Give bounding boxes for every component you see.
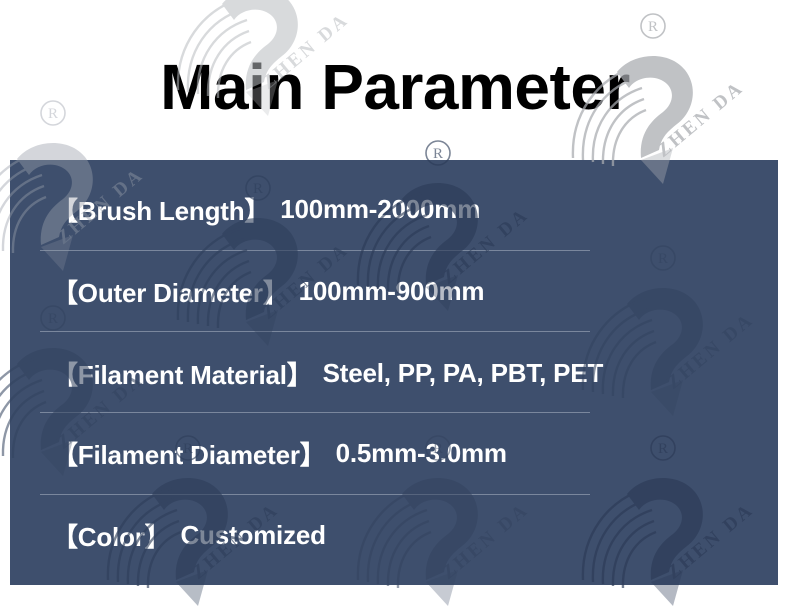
parameter-list: 【Brush Length】 100mm-2000mm 【Outer Diame… <box>10 160 778 585</box>
parameter-value: 100mm-900mm <box>299 276 485 307</box>
parameter-row: 【Filament Material】 Steel, PP, PA, PBT, … <box>52 352 603 394</box>
parameter-label: 【Filament Diameter】 <box>52 435 326 472</box>
parameter-label: 【Brush Length】 <box>52 191 270 228</box>
parameter-label: 【Color】 <box>52 517 170 554</box>
parameter-row: 【Color】 Customized <box>52 514 326 556</box>
parameter-row: 【Filament Diameter】 0.5mm-3.0mm <box>52 432 507 474</box>
parameter-label: 【Filament Material】 <box>52 355 313 392</box>
parameter-value: 0.5mm-3.0mm <box>336 438 507 469</box>
parameter-value: Steel, PP, PA, PBT, PET <box>323 358 604 389</box>
page-title: Main Parameter <box>160 41 630 119</box>
title-area: Main Parameter <box>0 0 790 160</box>
parameter-row: 【Brush Length】 100mm-2000mm <box>52 188 480 230</box>
parameter-value: Customized <box>180 520 325 551</box>
parameter-row: 【Outer Diameter】 100mm-900mm <box>52 270 484 312</box>
parameter-spec-image: Main Parameter 【Brush Length】 100mm-2000… <box>0 0 790 609</box>
parameter-value: 100mm-2000mm <box>280 194 480 225</box>
parameter-label: 【Outer Diameter】 <box>52 273 289 310</box>
parameter-panel: 【Brush Length】 100mm-2000mm 【Outer Diame… <box>10 160 778 585</box>
